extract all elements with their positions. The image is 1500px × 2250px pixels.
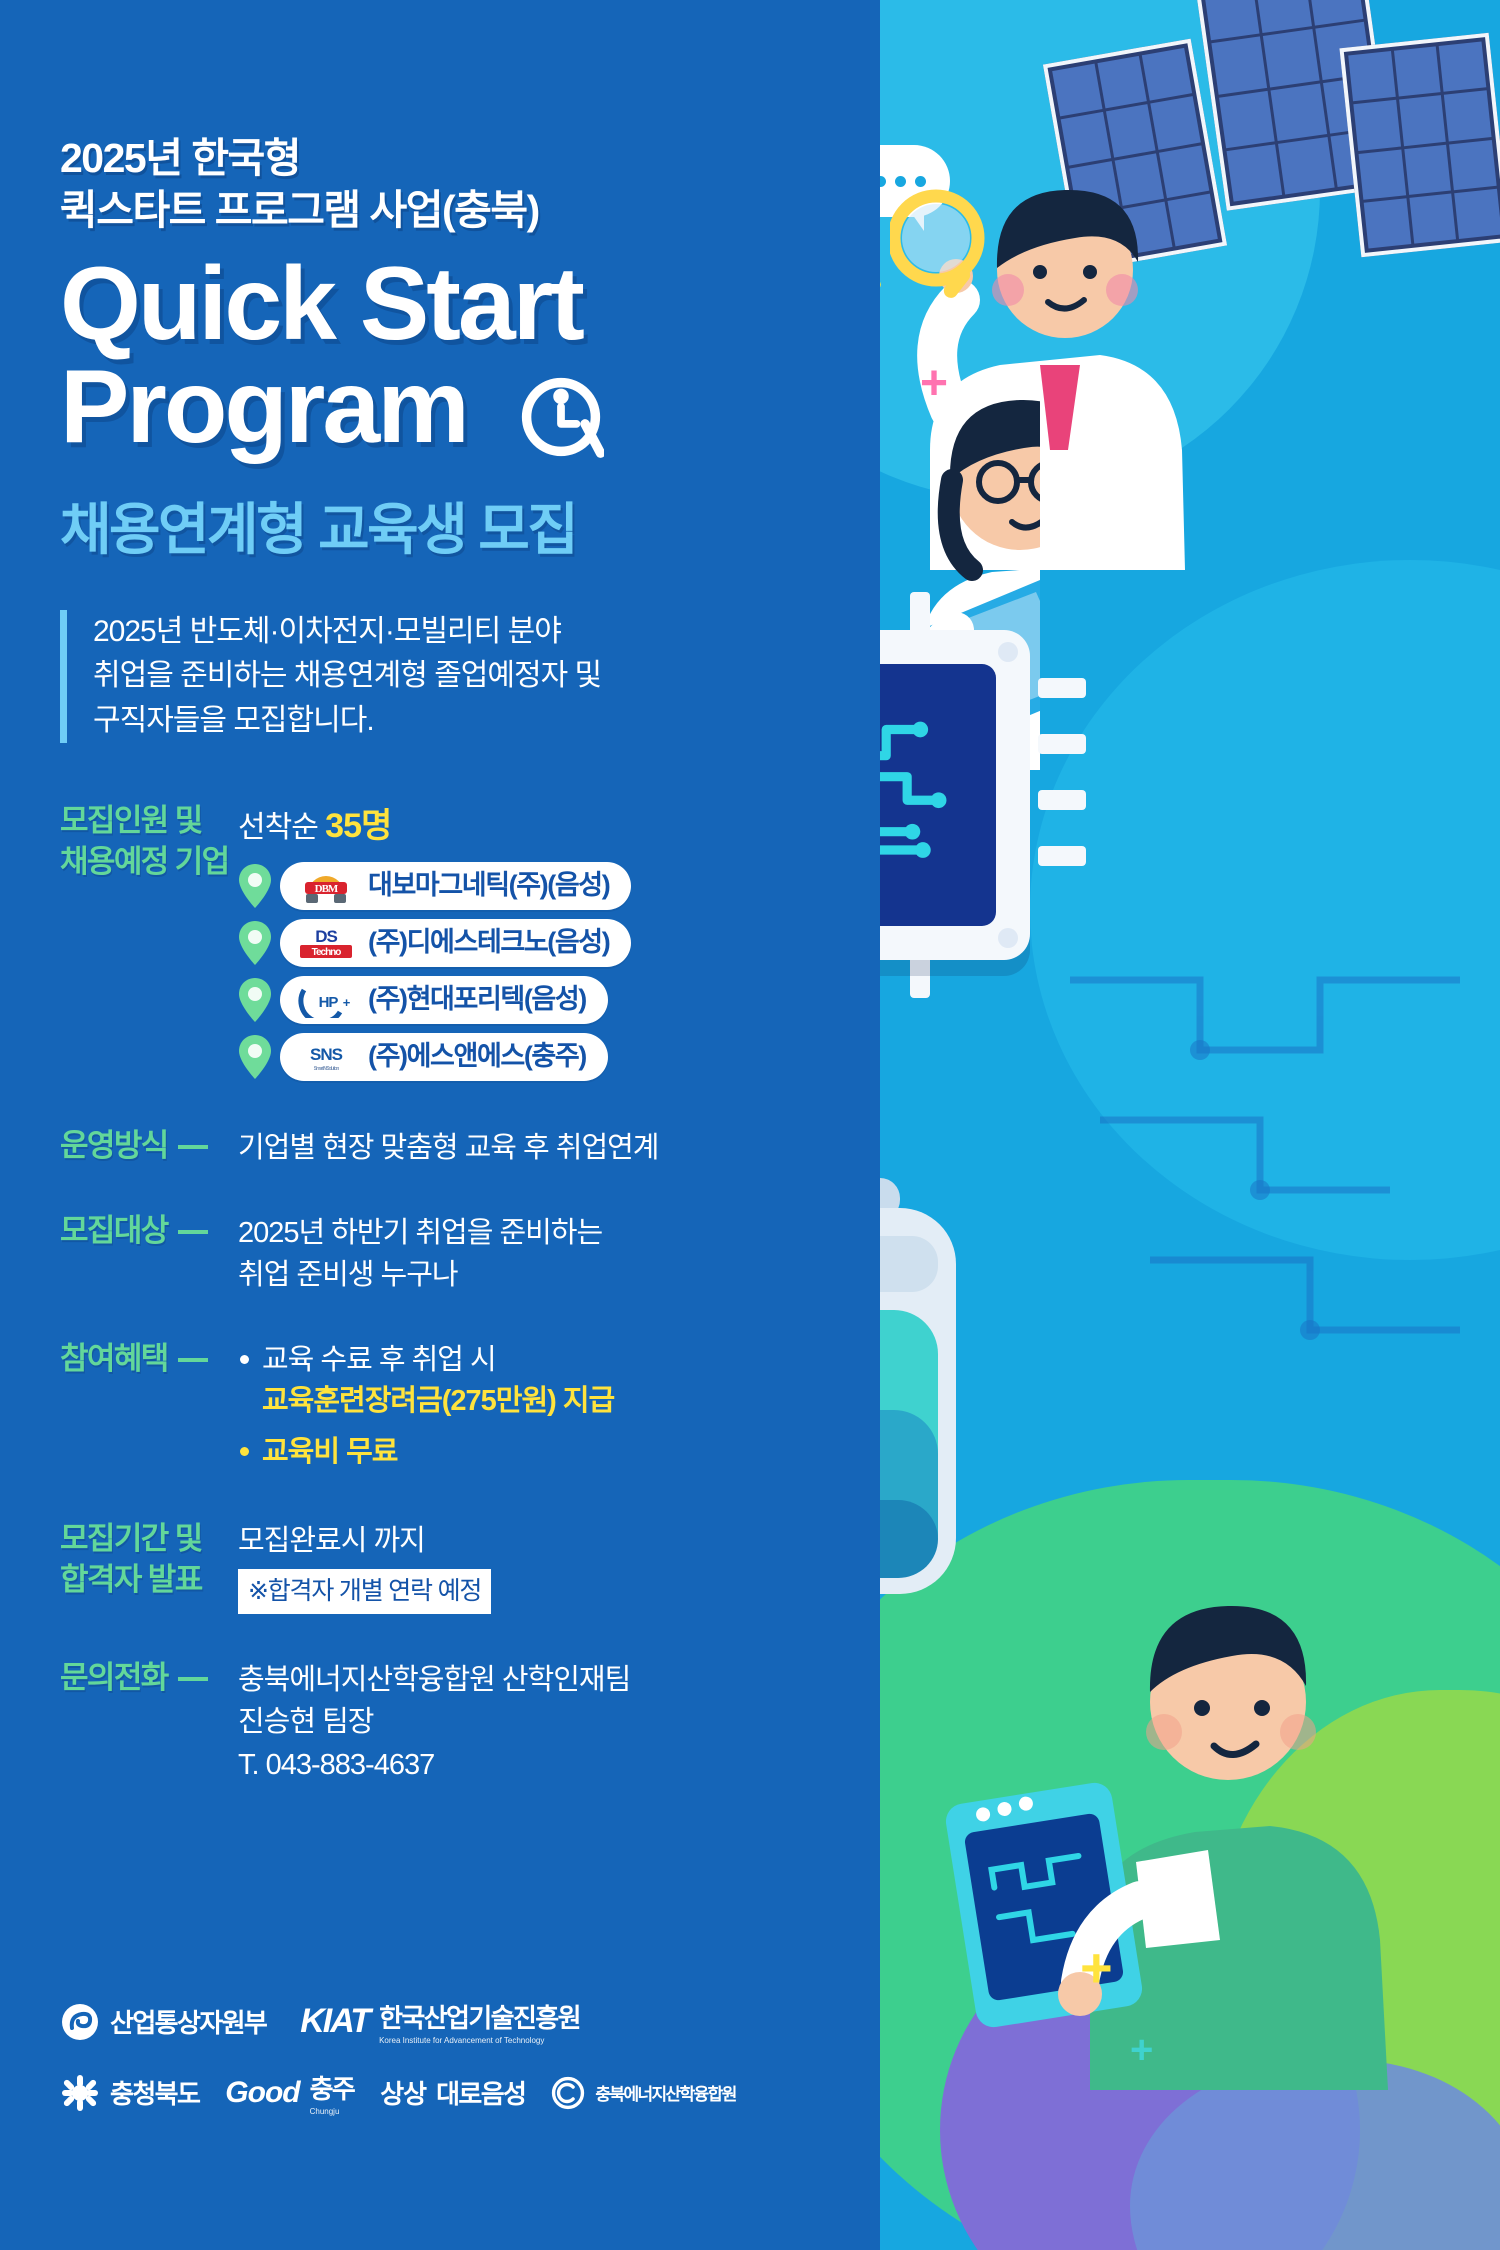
logo-chungcheongbukdo: 충청북도 [60, 2073, 199, 2113]
method-value: 기업별 현장 맞춤형 교육 후 취업연계 [232, 1124, 840, 1169]
recruit-label-line-1: 모집인원 및 [60, 801, 232, 842]
title-line-2: Program [60, 349, 467, 465]
company-pill: DS Techno (주)디에스테크노(음성) [280, 919, 631, 967]
poster-lead-paragraph: 2025년 반도체·이차전지·모빌리티 분야 취업을 준비하는 채용연계형 졸업… [60, 610, 840, 743]
kiat-wordmark: KIAT [300, 2002, 369, 2041]
contact-phone: T. 043-883-4637 [238, 1744, 840, 1786]
info-row-target: 모집대상 2025년 하반기 취업을 준비하는 취업 준비생 누구나 [60, 1209, 840, 1297]
plus-sparkle-icon: + [1080, 1940, 1113, 1996]
contact-line-2: 진승현 팀장 [238, 1701, 840, 1743]
lead-line-3: 구직자들을 모집합니다. [93, 699, 840, 743]
logo-cbeiuc-label: 충북에너지산학융합원 [595, 2080, 735, 2105]
company-item: DS Techno (주)디에스테크노(음성) [238, 919, 840, 967]
illustration-panel: + • + + + + + + [880, 0, 1500, 2250]
period-value-text: 모집완료시 까지 [238, 1520, 840, 1562]
company-item: DBM 대보마그네틱(주)(음성) [238, 862, 840, 910]
footer-logos: 산업통상자원부 KIAT 한국산업기술진흥원 Korea Institute f… [60, 1998, 820, 2140]
company-logo-hp-icon: HP + [294, 982, 358, 1018]
company-name: (주)디에스테크노(음성) [368, 923, 609, 962]
motie-emblem-icon [60, 2002, 100, 2042]
company-logo-dbm-icon: DBM [294, 868, 358, 904]
logo-motie-label: 산업통상자원부 [110, 2003, 266, 2040]
title-line-1: Quick Start [60, 246, 582, 362]
benefits-label-wrap: 참여혜택 [60, 1337, 232, 1380]
logo-chungbuk-label: 충청북도 [110, 2074, 199, 2111]
company-item: HP + (주)현대포리텍(음성) [238, 976, 840, 1024]
poster-title: Quick Start Program [60, 253, 840, 459]
kiat-english-name: Korea Institute for Advancement of Techn… [379, 2036, 580, 2045]
poster-kicker: 2025년 한국형 퀵스타트 프로그램 사업(충북) [60, 132, 840, 237]
contact-label: 문의전화 [60, 1658, 168, 1699]
target-value-line-2: 취업 준비생 누구나 [238, 1254, 840, 1296]
logo-cbeiuc: 충북에너지산학융합원 [551, 2076, 735, 2110]
info-row-method: 운영방식 기업별 현장 맞춤형 교육 후 취업연계 [60, 1124, 840, 1169]
svg-text:SNS: SNS [310, 1045, 343, 1064]
svg-text:Techno: Techno [312, 947, 342, 958]
benefit-text-plain: 교육 수료 후 취업 시 [262, 1344, 496, 1376]
period-note: ※합격자 개별 연락 예정 [238, 1569, 491, 1614]
period-label: 모집기간 및 합격자 발표 [60, 1517, 232, 1601]
lead-line-1: 2025년 반도체·이차전지·모빌리티 분야 [93, 610, 840, 654]
info-row-recruit: 모집인원 및 채용예정 기업 선착순 35명 [60, 799, 840, 1090]
company-logo-ds-techno-icon: DS Techno [294, 925, 358, 961]
company-pill: HP + (주)현대포리텍(음성) [280, 976, 608, 1024]
logo-motie: 산업통상자원부 [60, 2002, 266, 2042]
info-row-benefits: 참여혜택 교육 수료 후 취업 시 교육훈련장려금(275만원) 지급 교육비 … [60, 1337, 840, 1478]
benefit-item: 교육비 무료 [238, 1432, 840, 1473]
solar-panel-icon [1339, 33, 1500, 258]
benefits-label: 참여혜택 [60, 1339, 168, 1380]
location-pin-icon [238, 863, 272, 909]
svg-text:+: + [343, 995, 351, 1010]
logo-good-chungju: Good 충주 Chungju [225, 2069, 354, 2116]
method-label: 운영방식 [60, 1126, 168, 1167]
kicker-line-1: 2025년 한국형 [60, 132, 840, 184]
target-label: 모집대상 [60, 1211, 168, 1252]
contact-value: 충북에너지산학융합원 산학인재팀 진승현 팀장 T. 043-883-4637 [232, 1656, 840, 1786]
period-label-line-1: 모집기간 및 [60, 1519, 232, 1560]
method-label-wrap: 운영방식 [60, 1124, 232, 1167]
plus-sparkle-icon: + [1130, 2030, 1153, 2070]
company-item: SNS Smart N Solution (주)에스앤에스(충주) [238, 1033, 840, 1081]
poster-subtitle: 채용연계형 교육생 모집 [60, 485, 840, 566]
logo-eumseong-label: 대로음성 [436, 2074, 525, 2111]
location-pin-icon [238, 977, 272, 1023]
footer-logo-row-1: 산업통상자원부 KIAT 한국산업기술진흥원 Korea Institute f… [60, 1998, 820, 2045]
period-value: 모집완료시 까지 ※합격자 개별 연락 예정 [232, 1517, 840, 1614]
company-pill: SNS Smart N Solution (주)에스앤에스(충주) [280, 1033, 608, 1081]
dash-divider [178, 1358, 208, 1362]
recruit-label-line-2: 채용예정 기업 [60, 842, 232, 883]
count-prefix: 선착순 [238, 811, 318, 844]
benefits-value: 교육 수료 후 취업 시 교육훈련장려금(275만원) 지급 교육비 무료 [232, 1337, 840, 1478]
chungbuk-emblem-icon [60, 2073, 100, 2113]
benefit-text-bold: 교육비 무료 [262, 1436, 397, 1468]
svg-text:DS: DS [315, 927, 337, 946]
recruit-value: 선착순 35명 [232, 799, 840, 1090]
footer-logo-row-2: 충청북도 Good 충주 Chungju 상상 대로음성 [60, 2069, 820, 2116]
svg-text:Smart N Solution: Smart N Solution [314, 1066, 340, 1072]
location-pin-icon [238, 920, 272, 966]
info-row-contact: 문의전화 충북에너지산학융합원 산학인재팀 진승현 팀장 T. 043-883-… [60, 1656, 840, 1786]
student-tablet-illustration [940, 1470, 1410, 2090]
count-value: 35명 [325, 807, 391, 845]
eumseong-wordmark: 상상 [380, 2074, 426, 2111]
contact-line-1: 충북에너지산학융합원 산학인재팀 [238, 1659, 840, 1701]
period-label-line-2: 합격자 발표 [60, 1560, 232, 1601]
recruit-label: 모집인원 및 채용예정 기업 [60, 799, 232, 883]
good-wordmark: Good [225, 2076, 299, 2110]
ce-emblem-icon [551, 2076, 585, 2110]
poster-root: + • + + + + + + 2025년 한국형 퀵스타트 프로그램 사업(충… [0, 0, 1500, 2250]
info-rows: 모집인원 및 채용예정 기업 선착순 35명 [60, 799, 840, 1786]
target-value-line-1: 2025년 하반기 취업을 준비하는 [238, 1212, 840, 1254]
contact-label-wrap: 문의전화 [60, 1656, 232, 1699]
svg-text:DBM: DBM [315, 883, 339, 895]
company-pill: DBM 대보마그네틱(주)(음성) [280, 862, 631, 910]
logo-chungju-label: 충주 Chungju [310, 2069, 355, 2116]
company-logo-sns-icon: SNS Smart N Solution [294, 1039, 358, 1075]
benefit-text-bold: 교육훈련장려금(275만원) 지급 [262, 1385, 614, 1417]
location-pin-icon [238, 1034, 272, 1080]
target-value: 2025년 하반기 취업을 준비하는 취업 준비생 누구나 [232, 1209, 840, 1297]
chungju-english-name: Chungju [310, 2107, 355, 2116]
logo-eumseong: 상상 대로음성 [380, 2074, 525, 2111]
logo-kiat-label: 한국산업기술진흥원 Korea Institute for Advancemen… [379, 1998, 580, 2045]
company-name: (주)에스앤에스(충주) [368, 1037, 586, 1076]
kicker-line-2: 퀵스타트 프로그램 사업(충북) [60, 184, 840, 236]
target-label-wrap: 모집대상 [60, 1209, 232, 1252]
dash-divider [178, 1677, 208, 1681]
kiat-korean-name: 한국산업기술진흥원 [379, 2003, 580, 2033]
svg-text:HP: HP [319, 994, 339, 1011]
dash-divider [178, 1230, 208, 1234]
company-name: 대보마그네틱(주)(음성) [368, 866, 609, 905]
chungju-korean-name: 충주 [310, 2074, 355, 2104]
benefits-list: 교육 수료 후 취업 시 교육훈련장려금(275만원) 지급 교육비 무료 [238, 1340, 840, 1474]
content-column: 2025년 한국형 퀵스타트 프로그램 사업(충북) Quick Start P… [0, 0, 900, 2250]
benefit-item: 교육 수료 후 취업 시 교육훈련장려금(275만원) 지급 [238, 1340, 840, 1422]
accessibility-icon [518, 374, 604, 460]
plus-sparkle-icon: + [920, 360, 948, 408]
info-row-period: 모집기간 및 합격자 발표 모집완료시 까지 ※합격자 개별 연락 예정 [60, 1517, 840, 1614]
company-name: (주)현대포리텍(음성) [368, 980, 586, 1019]
logo-kiat: KIAT 한국산업기술진흥원 Korea Institute for Advan… [300, 1998, 580, 2045]
recruit-count: 선착순 35명 [238, 802, 840, 852]
lead-line-2: 취업을 준비하는 채용연계형 졸업예정자 및 [93, 654, 840, 698]
dash-divider [178, 1145, 208, 1149]
circuit-trace-decoration [1060, 940, 1480, 1360]
